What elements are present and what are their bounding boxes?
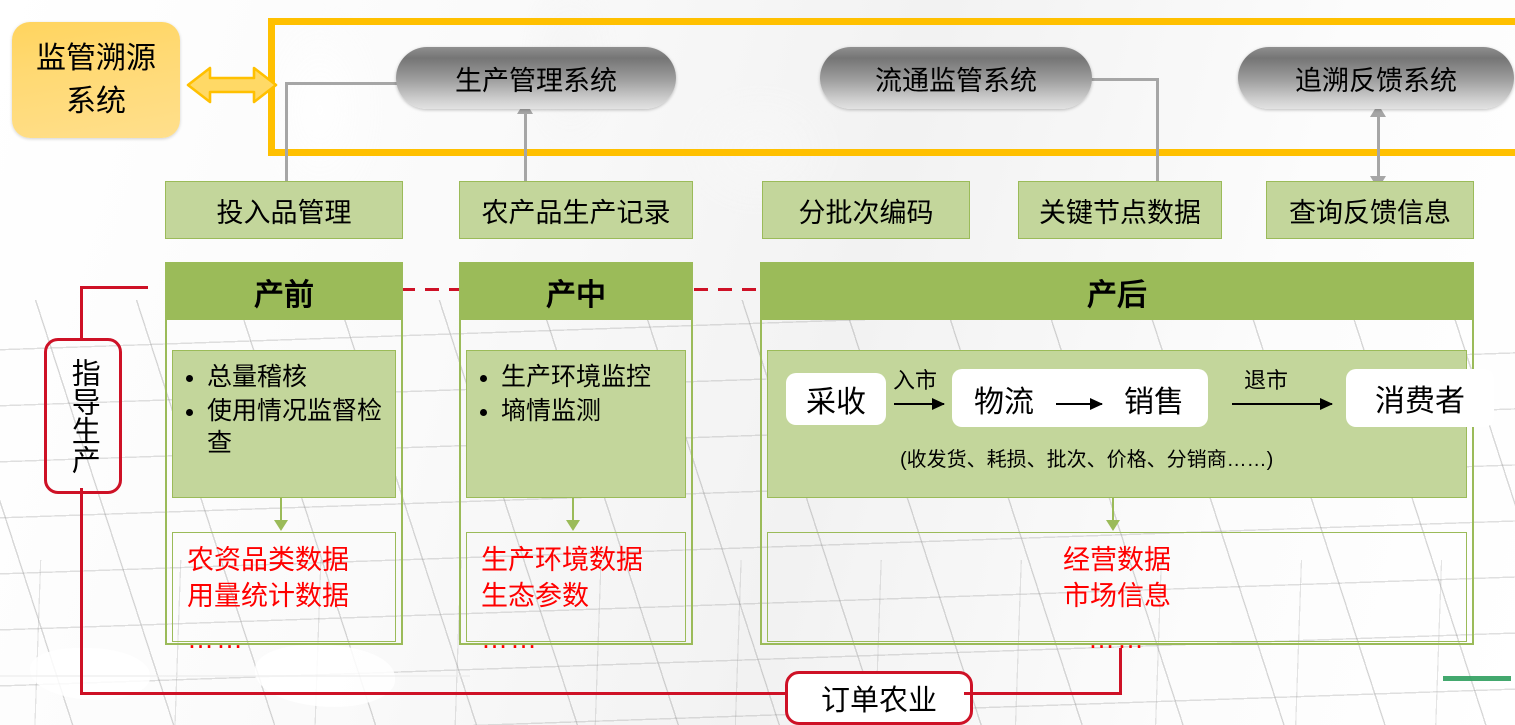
module-key-node-data[interactable]: 关键节点数据	[1018, 181, 1222, 239]
stage-output-post-production: 经营数据 市场信息 ……	[767, 532, 1467, 642]
source-system-line2: 系统	[66, 80, 126, 124]
red-loop-right-horizontal	[964, 692, 1122, 695]
stage-down-arrow-icon	[1106, 498, 1120, 532]
source-system-line1: 监管溯源	[36, 37, 156, 81]
module-label: 查询反馈信息	[1289, 191, 1451, 230]
module-label: 分批次编码	[799, 191, 934, 230]
flow-note-text: (收发货、耗损、批次、价格、分销商……)	[900, 449, 1273, 471]
flow-label-exit-market: 退市	[1244, 363, 1288, 395]
red-loop-top-horizontal	[80, 286, 148, 289]
module-label: 关键节点数据	[1039, 191, 1201, 230]
stage-title-label: 产前	[254, 270, 314, 314]
flow-arrow-logistics-to-sales	[1056, 403, 1102, 405]
stage-body-in-production: 生产环境监控 墒情监测	[466, 350, 686, 498]
module-label: 农产品生产记录	[482, 191, 671, 230]
flow-note: (收发货、耗损、批次、价格、分销商……)	[900, 443, 1273, 472]
stage-body-post-production: 采收 物流 销售 消费者 入市 退市	[767, 350, 1467, 498]
diagram-canvas: 监管溯源 系统 生产管理系统 流通监管系统 追溯反馈系统 投入品管理 农产品生产…	[0, 0, 1515, 725]
red-loop-left-vertical	[80, 488, 83, 694]
background-accent-green	[1443, 676, 1511, 681]
guide-production-node[interactable]: 指导生产	[44, 338, 122, 494]
flow-arrow-sales-to-consumer	[1232, 403, 1332, 405]
list-item: 墒情监测	[501, 395, 677, 427]
stage-column-post-production: 产后 采收 物流 销售 消费者 入市	[760, 262, 1474, 645]
module-agri-production-record[interactable]: 农产品生产记录	[459, 181, 693, 239]
flow-node-consumer[interactable]: 消费者	[1346, 369, 1494, 427]
system-pill-label: 追溯反馈系统	[1295, 59, 1457, 98]
bidirectional-arrow-icon	[186, 62, 278, 108]
output-ellipsis: ……	[481, 622, 685, 658]
connector-circulation-horizontal	[1089, 78, 1159, 81]
module-query-feedback-info[interactable]: 查询反馈信息	[1266, 181, 1474, 239]
output-line: 经营数据	[768, 543, 1466, 579]
stage-output-in-production: 生产环境数据 生态参数 ……	[466, 532, 686, 642]
output-line: 生产环境数据	[481, 543, 685, 579]
dashed-link-mid-to-post	[694, 288, 762, 291]
output-line: 用量统计数据	[187, 579, 395, 615]
stage-title-post-production: 产后	[762, 264, 1472, 320]
flow-node-logistics[interactable]: 物流	[958, 373, 1050, 425]
output-line: 市场信息	[768, 579, 1466, 615]
system-pill-label: 流通监管系统	[875, 59, 1037, 98]
flow-node-label: 物流	[974, 377, 1034, 421]
system-pill-production-management[interactable]: 生产管理系统	[396, 47, 676, 109]
flow-node-label: 销售	[1124, 377, 1184, 421]
module-label: 投入品管理	[217, 191, 352, 230]
stage-title-label: 产后	[1087, 270, 1147, 314]
connector-input-to-prodsys-vertical	[285, 82, 288, 186]
guide-production-label: 指导生产	[67, 358, 99, 474]
flow-label-text: 退市	[1244, 368, 1288, 393]
stage-title-label: 产中	[546, 270, 606, 314]
output-ellipsis: ……	[768, 622, 1466, 658]
system-pill-label: 生产管理系统	[455, 59, 617, 98]
output-ellipsis: ……	[187, 622, 395, 658]
flow-node-sales[interactable]: 销售	[1108, 373, 1200, 425]
background-line-a	[0, 675, 470, 677]
connector-circulation-vertical	[1156, 78, 1159, 186]
flow-label-text: 入市	[893, 368, 937, 393]
output-line: 农资品类数据	[187, 543, 395, 579]
list-item: 生产环境监控	[501, 361, 677, 393]
flow-node-label: 消费者	[1375, 376, 1465, 420]
order-agriculture-label: 订单农业	[821, 677, 937, 719]
connector-traceback-shaft	[1377, 115, 1380, 179]
connector-record-to-prodsys	[524, 112, 527, 186]
stage-column-pre-production: 产前 总量稽核 使用情况监督检查 农资品类数据 用量统计数据 ……	[165, 262, 403, 645]
system-pill-circulation-supervision[interactable]: 流通监管系统	[820, 47, 1092, 109]
stage-column-in-production: 产中 生产环境监控 墒情监测 生产环境数据 生态参数 ……	[459, 262, 693, 645]
output-line: 生态参数	[481, 579, 685, 615]
module-input-material-management[interactable]: 投入品管理	[165, 181, 403, 239]
system-pill-traceability-feedback[interactable]: 追溯反馈系统	[1238, 47, 1514, 109]
dashed-link-pre-to-mid	[401, 288, 461, 291]
list-item: 使用情况监督检查	[207, 395, 387, 459]
flow-label-enter-market: 入市	[893, 363, 937, 395]
list-item: 总量稽核	[207, 361, 387, 393]
flow-node-harvest[interactable]: 采收	[786, 373, 886, 425]
stage-output-pre-production: 农资品类数据 用量统计数据 ……	[172, 532, 396, 642]
flow-arrow-harvest-to-logistics	[894, 403, 944, 405]
stage-title-in-production: 产中	[461, 264, 691, 320]
red-loop-right-vertical	[1119, 648, 1122, 695]
stage-down-arrow-icon	[566, 498, 580, 532]
flow-node-label: 采收	[806, 377, 866, 421]
order-agriculture-node[interactable]: 订单农业	[785, 671, 973, 725]
stage-title-pre-production: 产前	[167, 264, 401, 320]
red-loop-top-vertical	[80, 286, 83, 340]
red-loop-bottom-horizontal	[80, 692, 788, 695]
stage-body-pre-production: 总量稽核 使用情况监督检查	[172, 350, 396, 498]
module-batch-coding[interactable]: 分批次编码	[762, 181, 970, 239]
stage-down-arrow-icon	[274, 498, 288, 532]
supervision-source-system-box[interactable]: 监管溯源 系统	[12, 22, 180, 138]
